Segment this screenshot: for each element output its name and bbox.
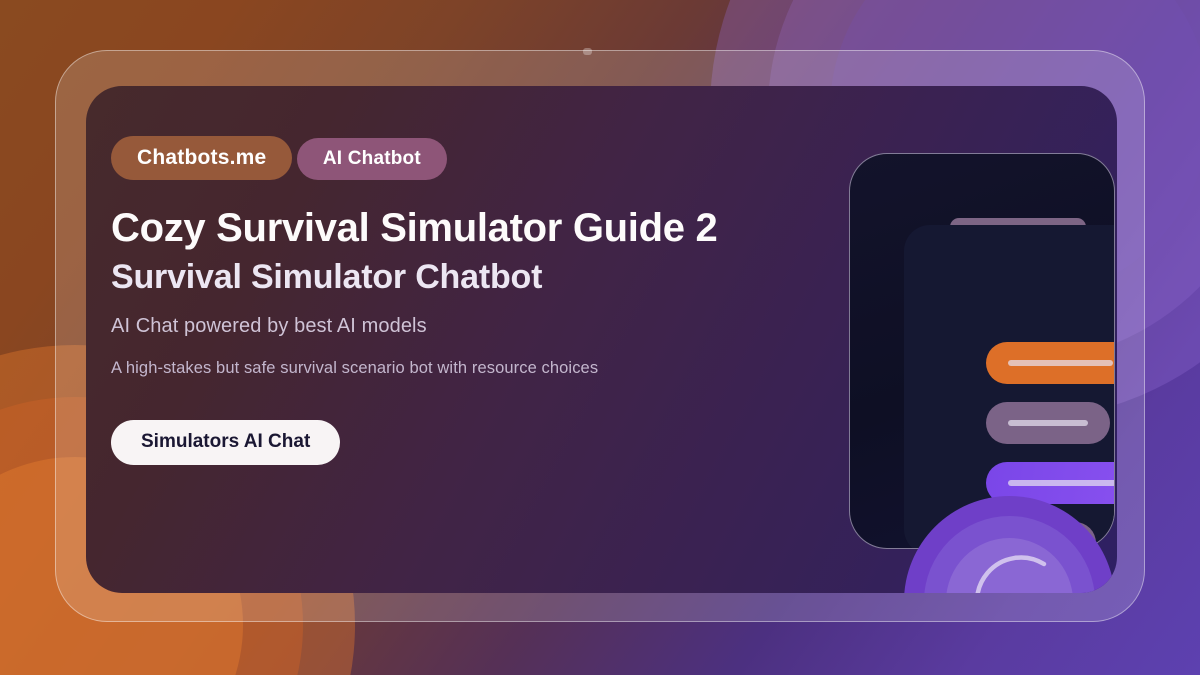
badge-site-name[interactable]: Chatbots.me (111, 136, 292, 180)
outer-frame: Chatbots.me AI Chatbot Cozy Survival Sim… (55, 50, 1145, 622)
message-line (1008, 360, 1113, 366)
description-text: A high-stakes but safe survival scenario… (111, 359, 811, 378)
page-title: Cozy Survival Simulator Guide 2 (111, 203, 736, 253)
card-content: Chatbots.me AI Chatbot Cozy Survival Sim… (111, 136, 811, 465)
message-line (1008, 420, 1088, 426)
cta-button[interactable]: Simulators AI Chat (111, 420, 340, 465)
badge-category[interactable]: AI Chatbot (297, 138, 447, 180)
avatar (904, 496, 1115, 593)
message-line (1008, 480, 1115, 486)
message-bubble-orange (986, 342, 1115, 384)
page-subtitle: Survival Simulator Chatbot (111, 255, 811, 299)
promo-card: Chatbots.me AI Chatbot Cozy Survival Sim… (86, 86, 1117, 593)
tagline-text: AI Chat powered by best AI models (111, 315, 811, 338)
smiley-face-icon (904, 496, 1115, 593)
phone-mockup (849, 153, 1115, 549)
frame-notch (583, 48, 592, 55)
message-bubble-muted-1 (986, 402, 1110, 444)
